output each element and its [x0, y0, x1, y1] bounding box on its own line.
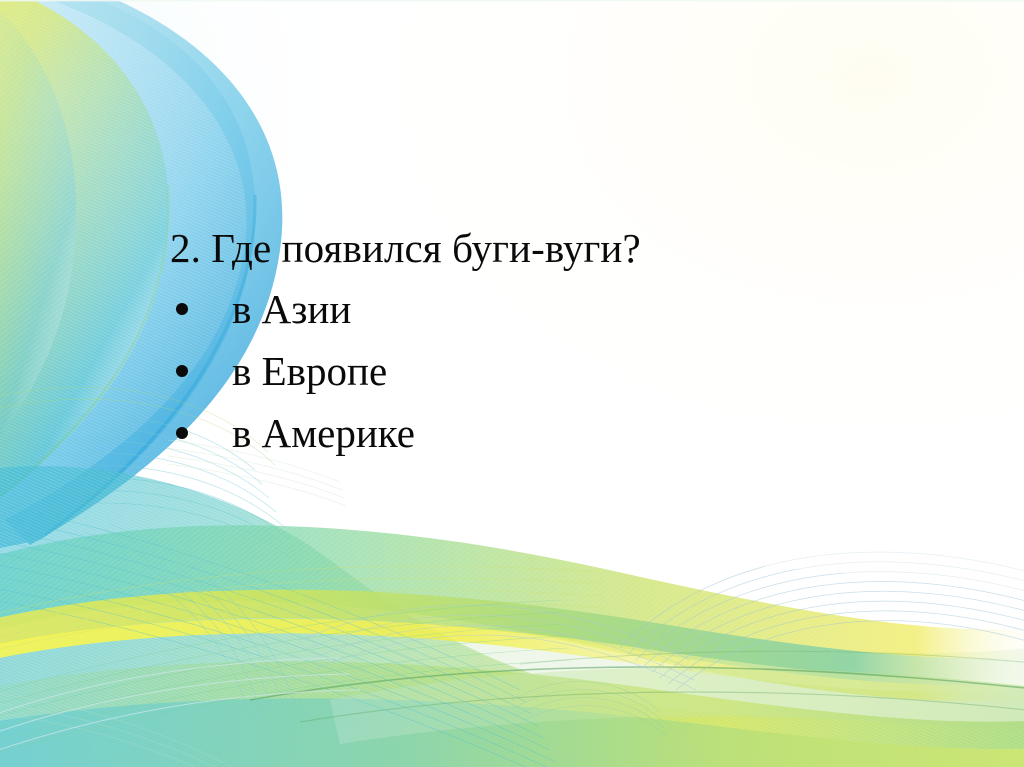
answer-option-label: в Америке — [232, 410, 415, 456]
answer-option-1[interactable]: в Азии — [170, 278, 990, 340]
bullet-dot-icon — [176, 365, 188, 377]
bullet-dot-icon — [176, 427, 188, 439]
presentation-slide: 2. Где появился буги-вуги? в Азии в Евро… — [0, 0, 1024, 767]
answer-option-label: в Азии — [232, 286, 351, 332]
answer-option-2[interactable]: в Европе — [170, 340, 990, 402]
slide-text-content: 2. Где появился буги-вуги? в Азии в Евро… — [170, 218, 990, 464]
question-title: 2. Где появился буги-вуги? — [170, 218, 990, 278]
answer-options-list: в Азии в Европе в Америке — [170, 278, 990, 464]
answer-option-label: в Европе — [232, 348, 387, 394]
bullet-dot-icon — [176, 303, 188, 315]
answer-option-3[interactable]: в Америке — [170, 402, 990, 464]
